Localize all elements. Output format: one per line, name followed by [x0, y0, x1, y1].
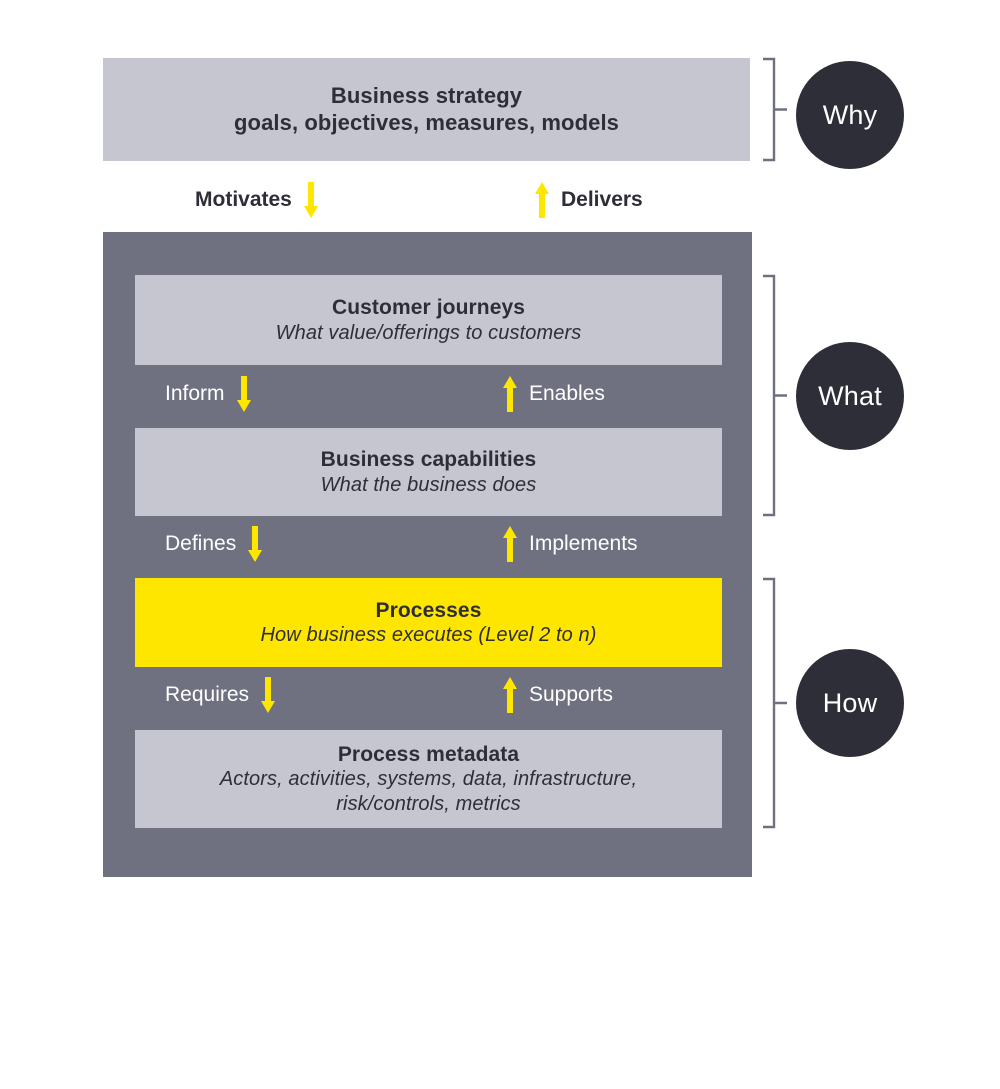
group-circle-what[interactable]: What: [796, 342, 904, 450]
connector-label-delivers: Delivers: [561, 188, 643, 212]
group-circle-why[interactable]: Why: [796, 61, 904, 169]
layer-subtitle-processes: How business executes (Level 2 to n): [261, 623, 597, 647]
business-architecture-diagram: Business strategy goals, objectives, mea…: [0, 0, 1000, 947]
bracket-why: [762, 58, 788, 161]
arrow-up-icon: [503, 677, 517, 713]
layer-subtitle-customer-journeys: What value/offerings to customers: [276, 321, 582, 345]
arrow-down-icon: [304, 182, 318, 218]
connector-pair-motivates: Motivates: [195, 178, 318, 222]
connector-capabilities-to-processes: Defines Implements: [135, 522, 722, 566]
connector-processes-to-metadata: Requires Supports: [135, 673, 722, 717]
arrow-down-icon: [237, 376, 251, 412]
connector-pair-inform: Inform: [165, 372, 251, 416]
layer-subtitle-process-metadata-line2: risk/controls, metrics: [336, 792, 520, 816]
arrow-up-icon: [503, 526, 517, 562]
bracket-how: [762, 578, 788, 828]
connector-label-supports: Supports: [529, 683, 613, 707]
layer-box-business-strategy[interactable]: Business strategy goals, objectives, mea…: [103, 58, 750, 161]
connector-pair-delivers: Delivers: [535, 178, 643, 222]
layer-title-processes: Processes: [376, 598, 482, 624]
arrow-down-icon: [261, 677, 275, 713]
connector-label-defines: Defines: [165, 532, 236, 556]
connector-label-enables: Enables: [529, 382, 605, 406]
connector-label-requires: Requires: [165, 683, 249, 707]
connector-pair-enables: Enables: [503, 372, 605, 416]
layer-box-process-metadata[interactable]: Process metadata Actors, activities, sys…: [135, 730, 722, 828]
layer-title-customer-journeys: Customer journeys: [332, 295, 525, 321]
connector-pair-implements: Implements: [503, 522, 638, 566]
arrow-up-icon: [503, 376, 517, 412]
arrow-up-icon: [535, 182, 549, 218]
connector-pair-requires: Requires: [165, 673, 275, 717]
connector-strategy-to-journeys: Motivates Delivers: [135, 178, 722, 222]
layer-box-processes[interactable]: Processes How business executes (Level 2…: [135, 578, 722, 667]
layer-subtitle-business-strategy: goals, objectives, measures, models: [234, 110, 619, 137]
group-label-what: What: [818, 381, 882, 412]
group-label-why: Why: [823, 100, 878, 131]
bracket-what: [762, 275, 788, 516]
layer-title-business-strategy: Business strategy: [331, 83, 522, 110]
business-architecture-label: Business architecture: [103, 1065, 752, 1089]
connector-label-motivates: Motivates: [195, 188, 292, 212]
connector-label-inform: Inform: [165, 382, 225, 406]
layer-subtitle-process-metadata-line1: Actors, activities, systems, data, infra…: [220, 767, 637, 791]
layer-title-business-capabilities: Business capabilities: [321, 447, 537, 473]
group-label-how: How: [823, 688, 878, 719]
connector-pair-defines: Defines: [165, 522, 262, 566]
layer-title-process-metadata: Process metadata: [338, 742, 519, 768]
layer-box-customer-journeys[interactable]: Customer journeys What value/offerings t…: [135, 275, 722, 365]
arrow-down-icon: [248, 526, 262, 562]
group-circle-how[interactable]: How: [796, 649, 904, 757]
connector-journeys-to-capabilities: Inform Enables: [135, 372, 722, 416]
connector-pair-supports: Supports: [503, 673, 613, 717]
layer-box-business-capabilities[interactable]: Business capabilities What the business …: [135, 428, 722, 516]
layer-subtitle-business-capabilities: What the business does: [321, 473, 537, 497]
connector-label-implements: Implements: [529, 532, 638, 556]
